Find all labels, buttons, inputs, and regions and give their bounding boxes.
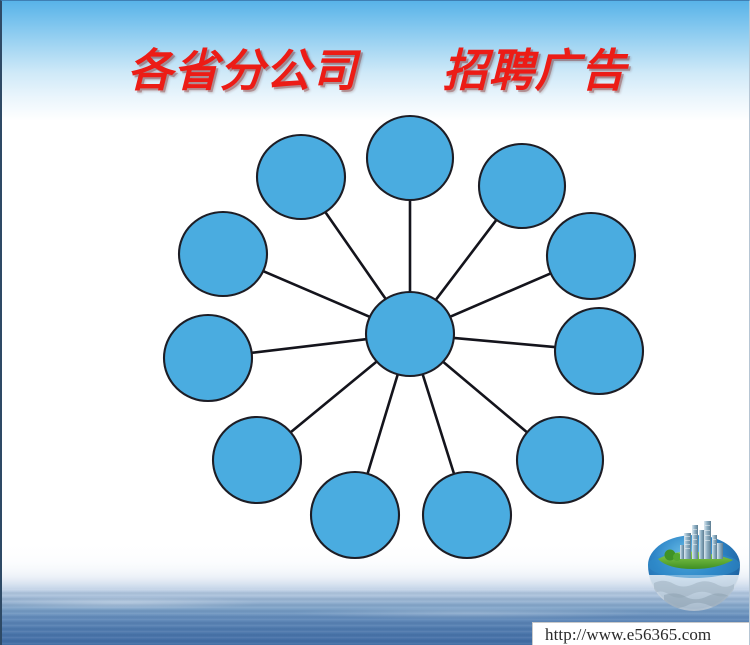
slide-canvas: 各省分公司 招聘广告 — [0, 0, 750, 645]
globe-city-logo — [642, 517, 746, 611]
node-bottom-right[interactable] — [423, 472, 511, 558]
spoke-node-bottom-right — [422, 373, 454, 475]
globe-continents — [642, 575, 746, 611]
spoke-node-upper-left — [324, 211, 386, 301]
tree-icon — [673, 553, 681, 561]
hub-node-group — [366, 292, 454, 376]
spoke-node-left-lower — [249, 339, 369, 353]
radial-diagram — [2, 1, 750, 645]
node-lower-right[interactable] — [517, 417, 603, 503]
spoke-node-lower-right — [441, 360, 528, 433]
watermark-url-bar: http://www.e56365.com — [532, 622, 750, 645]
spoke-node-bottom-left — [367, 373, 398, 475]
node-right-lower[interactable] — [555, 308, 643, 394]
node-lower-left[interactable] — [213, 417, 301, 503]
node-upper-right[interactable] — [479, 144, 565, 228]
spoke-node-lower-left — [289, 360, 378, 434]
node-right-upper[interactable] — [547, 213, 635, 299]
spoke-node-left-upper — [261, 270, 373, 318]
node-top[interactable] — [367, 116, 453, 200]
node-left-upper[interactable] — [179, 212, 267, 296]
watermark-url-text: http://www.e56365.com — [533, 625, 711, 645]
city-skyline — [680, 521, 723, 559]
spoke-node-right-upper — [448, 272, 553, 317]
spoke-node-right-lower — [451, 338, 558, 348]
node-upper-left[interactable] — [257, 135, 345, 219]
node-bottom-left[interactable] — [311, 472, 399, 558]
spoke-node-upper-right — [435, 218, 498, 301]
center-node[interactable] — [366, 292, 454, 376]
node-left-lower[interactable] — [164, 315, 252, 401]
